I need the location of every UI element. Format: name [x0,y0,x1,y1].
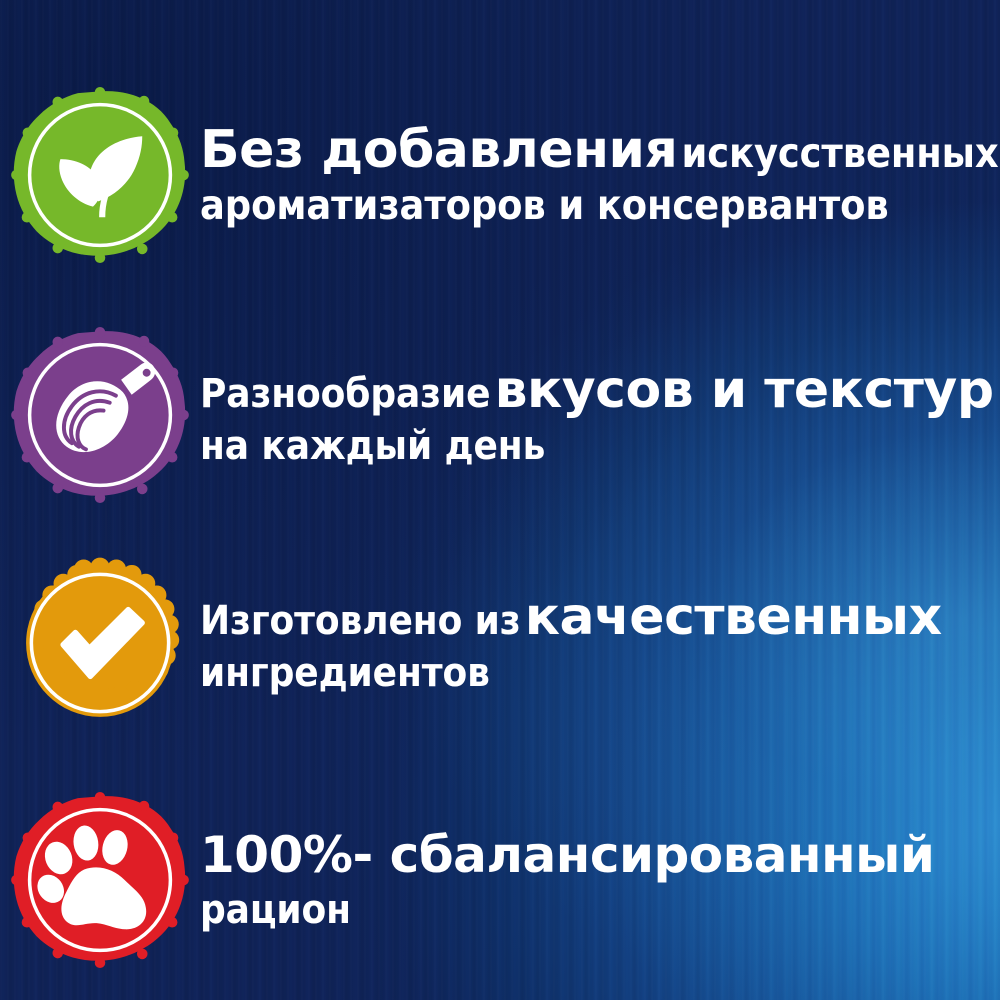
benefit-regular-text: Изготовлено из [200,598,521,644]
benefit-item-quality-ingredients: Изготовлено изкачественных ингредиентов [0,540,1000,745]
benefit-line-1: Без добавленияискусственных [200,121,999,180]
paw-print-icon [12,792,188,968]
badge-wrapper-quality [0,540,200,745]
benefit-line-1: 100%- сбалансированный [200,827,934,884]
benefits-banner: Без добавленияискусственных ароматизатор… [0,0,1000,1000]
benefit-text-no-additives: Без добавленияискусственных ароматизатор… [200,121,1000,229]
leaf-icon [12,87,188,263]
check-badge [12,555,188,731]
benefit-line-2: ингредиентов [200,651,942,697]
leaf-badge [12,87,188,263]
benefit-item-no-additives: Без добавленияискусственных ароматизатор… [0,70,1000,280]
benefit-line-2: ароматизаторов и консервантов [200,182,999,229]
paw-badge [12,792,188,968]
benefit-text-variety: Разнообразиевкусов и текстур на каждый д… [200,361,1000,470]
benefit-text-balanced-diet: 100%- сбалансированный рацион [200,827,1000,934]
whisk-badge [12,327,188,503]
benefit-line-2: на каждый день [200,424,994,470]
benefit-emphasis-text: 100%- сбалансированный [200,826,934,884]
benefit-emphasis-text: Без добавления [200,120,677,180]
benefit-line-1: Изготовлено изкачественных [200,588,942,647]
benefits-list: Без добавленияискусственных ароматизатор… [0,0,1000,1000]
benefit-regular-text: искусственных [682,129,999,177]
check-badge-icon [12,555,188,731]
benefit-regular-text: Разнообразие [200,371,490,417]
benefit-item-variety: Разнообразиевкусов и текстур на каждый д… [0,315,1000,515]
badge-wrapper-balanced [0,780,200,980]
badge-wrapper-no-additives [0,70,200,280]
benefit-emphasis-text: вкусов и текстур [495,360,994,420]
benefit-line-1: Разнообразиевкусов и текстур [200,361,994,420]
benefit-line-2: рацион [200,888,934,934]
benefit-emphasis-text: качественных [525,587,942,647]
whisk-icon [12,327,188,503]
benefit-text-quality-ingredients: Изготовлено изкачественных ингредиентов [200,588,1000,697]
benefit-item-balanced-diet: 100%- сбалансированный рацион [0,780,1000,980]
badge-wrapper-variety [0,315,200,515]
